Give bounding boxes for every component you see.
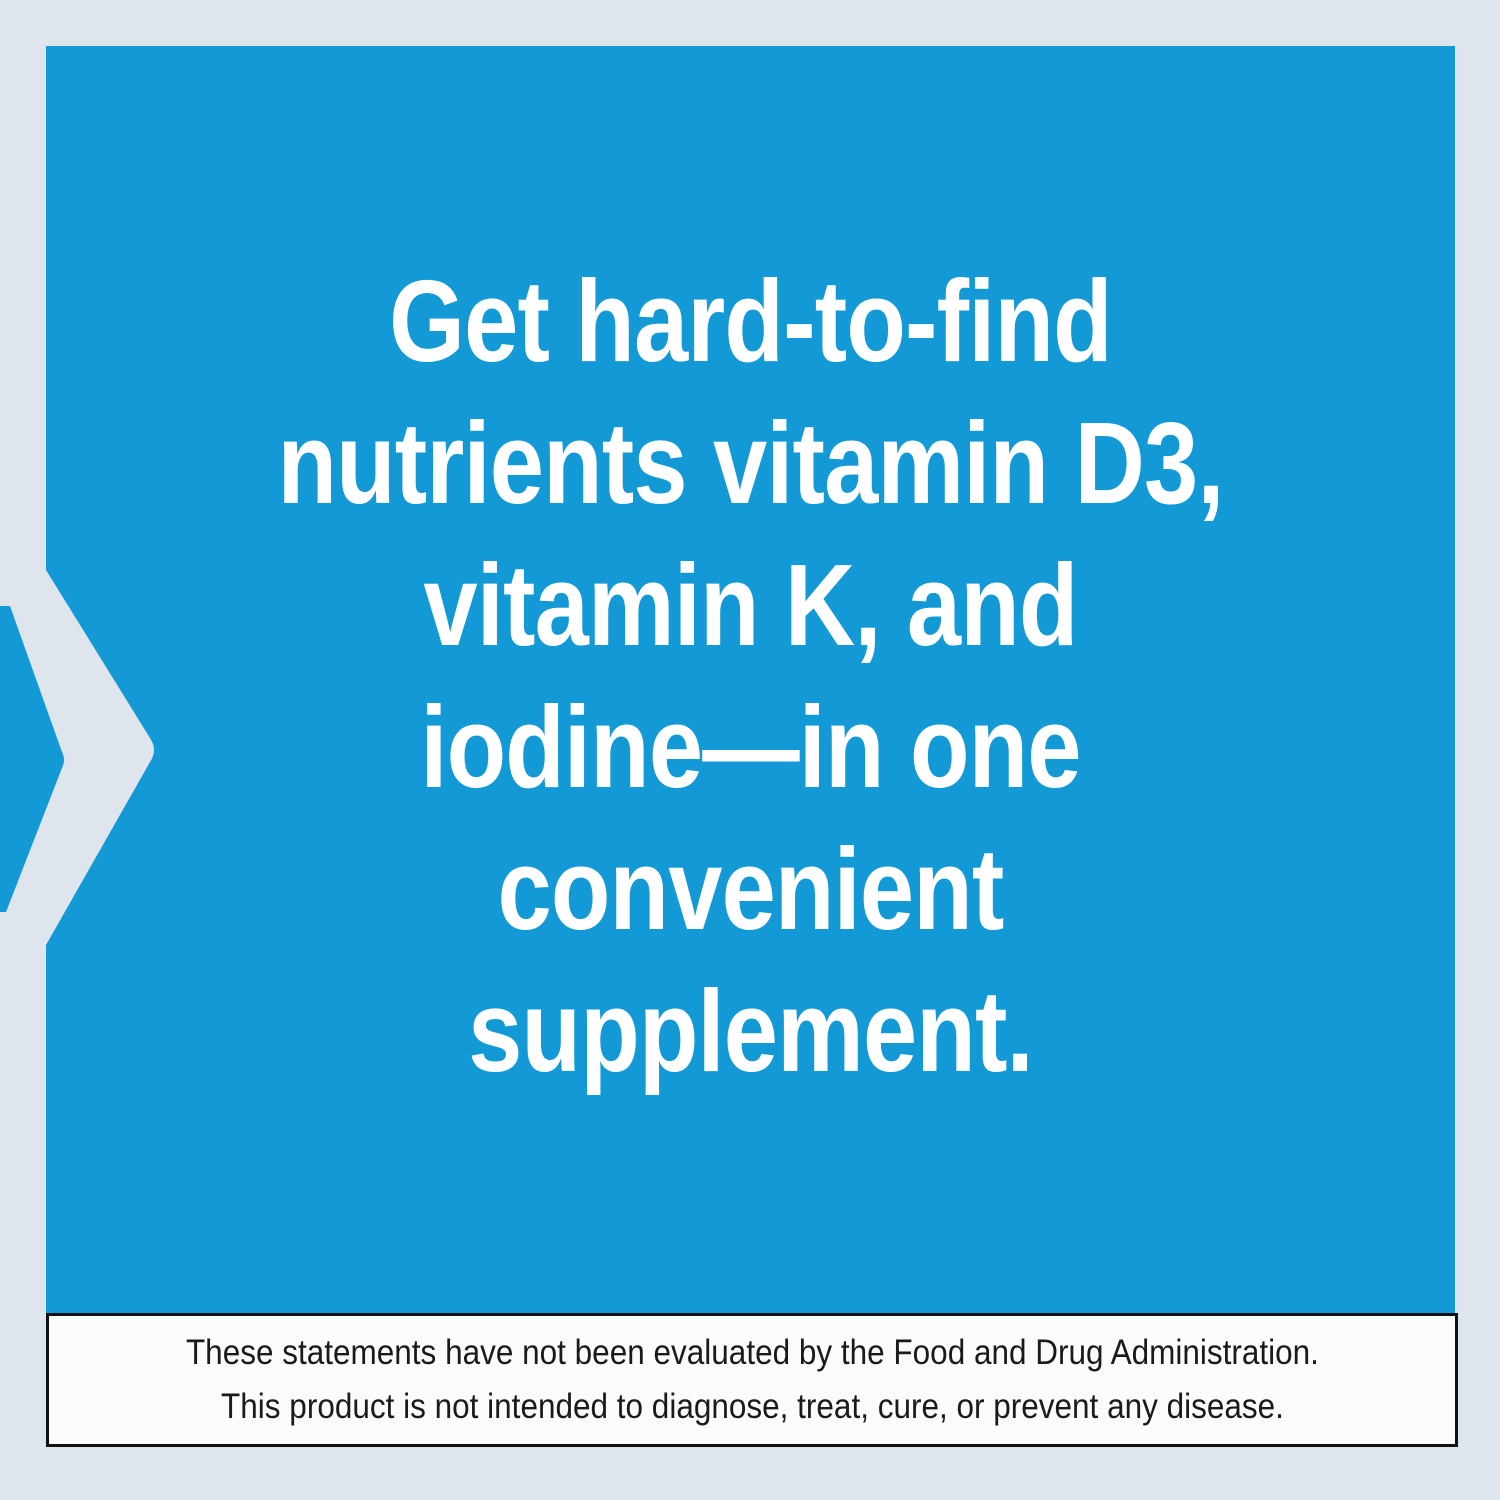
- headline: Get hard-to-find nutrients vitamin D3, v…: [46, 250, 1455, 1102]
- disclaimer-line-2: This product is not intended to diagnose…: [221, 1380, 1284, 1434]
- disclaimer-line-1: These statements have not been evaluated…: [186, 1326, 1319, 1380]
- headline-line-4: iodine—in one: [159, 676, 1343, 818]
- promo-graphic-canvas: Get hard-to-find nutrients vitamin D3, v…: [0, 0, 1500, 1500]
- headline-line-2: nutrients vitamin D3,: [159, 392, 1343, 534]
- headline-line-5: convenient: [159, 818, 1343, 960]
- fda-disclaimer-box: These statements have not been evaluated…: [46, 1313, 1458, 1447]
- headline-line-1: Get hard-to-find: [159, 250, 1343, 392]
- headline-line-3: vitamin K, and: [159, 534, 1343, 676]
- headline-line-6: supplement.: [159, 960, 1343, 1102]
